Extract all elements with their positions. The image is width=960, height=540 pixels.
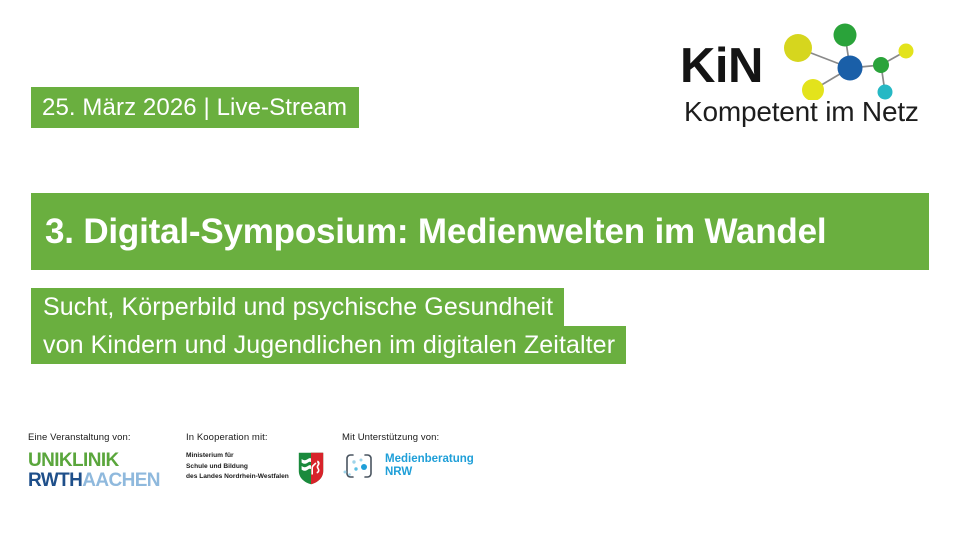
kin-wordmark: KiN — [680, 42, 763, 91]
footer-column-organizer: Eine Veranstaltung von: UNIKLINIK RWTHAA… — [28, 432, 160, 490]
node-yellow-green-large — [784, 34, 812, 62]
cooperation-label: In Kooperation mit: — [186, 432, 324, 443]
node-yellow — [802, 79, 824, 100]
organizer-label: Eine Veranstaltung von: — [28, 432, 160, 443]
ministerium-text: Ministerium für Schule und Bildung des L… — [186, 451, 289, 483]
node-green — [834, 24, 857, 47]
title-banner: 3. Digital-Symposium: Medienwelten im Wa… — [31, 193, 929, 270]
node-yellow-small — [899, 44, 914, 59]
subtitle-line-1: Sucht, Körperbild und psychische Gesundh… — [31, 288, 564, 326]
medienberatung-text: Medienberatung NRW — [385, 453, 474, 479]
footer-column-cooperation: In Kooperation mit: Ministerium für Schu… — [186, 432, 324, 485]
kin-logo: KiN Kompetent im Netz — [676, 22, 938, 134]
uniklinik-rwth-aachen-logo: UNIKLINIK RWTHAACHEN — [28, 451, 160, 490]
ministerium-line-2: Schule und Bildung — [186, 462, 289, 473]
footer-column-support: Mit Unterstützung von: Medienberatung NR… — [342, 432, 474, 481]
slide-canvas: 25. März 2026 | Live-Stream KiN Kompeten… — [0, 0, 960, 540]
medienberatung-bracket-icon — [342, 451, 378, 481]
node-green-small — [873, 57, 889, 73]
kin-tagline: Kompetent im Netz — [684, 98, 919, 126]
medienberatung-line-1: Medienberatung — [385, 453, 474, 466]
ministerium-line-3: des Landes Nordrhein-Westfalen — [186, 472, 289, 483]
network-graphic-icon — [772, 18, 938, 100]
ministerium-line-1: Ministerium für — [186, 451, 289, 462]
date-banner: 25. März 2026 | Live-Stream — [31, 87, 359, 128]
uniklinik-text: UNIKLINIK — [28, 451, 160, 470]
footer: Eine Veranstaltung von: UNIKLINIK RWTHAA… — [0, 432, 960, 512]
aachen-text: AACHEN — [82, 470, 160, 491]
nrw-coat-of-arms-icon — [298, 452, 324, 485]
node-cyan — [878, 85, 893, 100]
subtitle-block: Sucht, Körperbild und psychische Gesundh… — [31, 288, 651, 364]
subtitle-line-2: von Kindern und Jugendlichen im digitale… — [31, 326, 626, 364]
support-label: Mit Unterstützung von: — [342, 432, 474, 443]
medienberatung-line-2: NRW — [385, 466, 474, 479]
ministerium-nrw-logo: Ministerium für Schule und Bildung des L… — [186, 451, 324, 485]
node-blue-center — [838, 56, 863, 81]
medienberatung-nrw-logo: Medienberatung NRW — [342, 451, 474, 481]
date-banner-text: 25. März 2026 | Live-Stream — [42, 94, 347, 122]
rwth-aachen-text: RWTHAACHEN — [28, 471, 160, 490]
rwth-text: RWTH — [28, 470, 82, 491]
page-title: 3. Digital-Symposium: Medienwelten im Wa… — [45, 212, 826, 252]
